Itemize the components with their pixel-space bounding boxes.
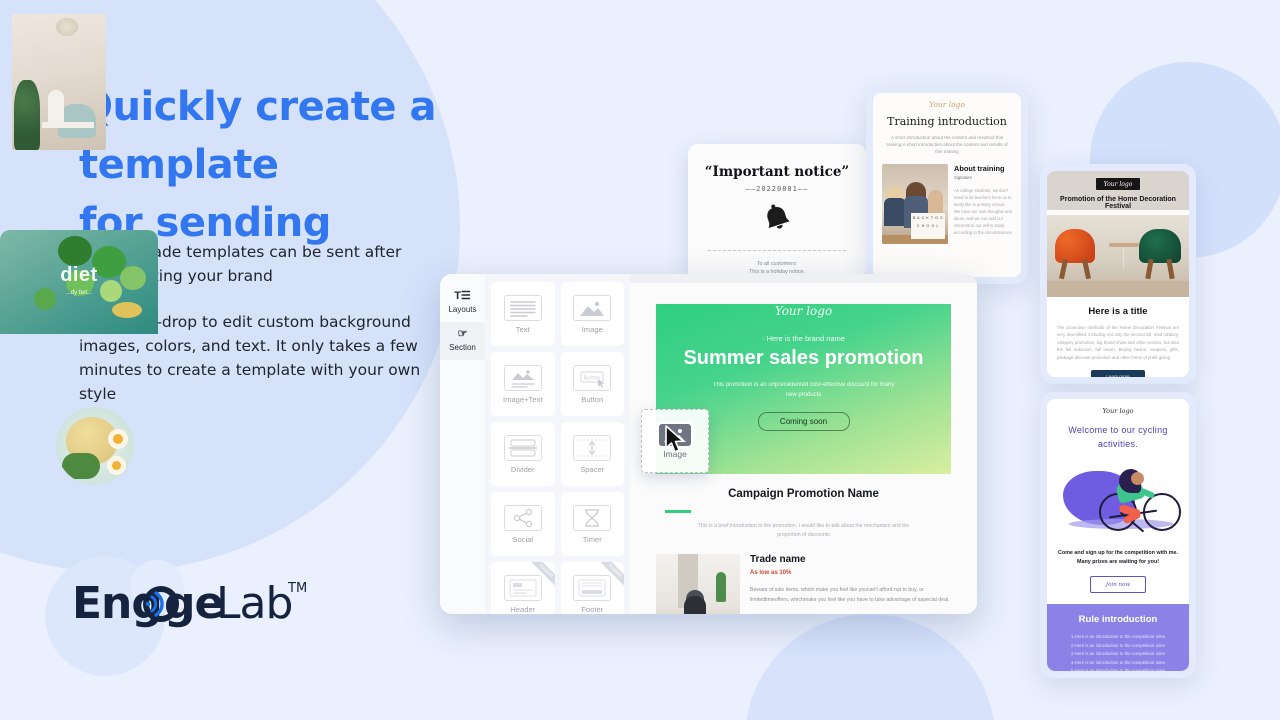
palette-tile-image[interactable]: Image — [561, 282, 625, 346]
palette-tile-button[interactable]: Button Button — [561, 352, 625, 416]
palette-tile-label: Header — [510, 605, 535, 614]
canvas-trade-title: Trade name — [750, 554, 951, 565]
canvas-trade-text-col: Trade name As low as 10% Beware of sale … — [750, 554, 951, 614]
notice-inner: “Important notice” ——20220801—— To all c… — [688, 144, 866, 286]
decoration-title: Promotion of the Home Decoration Festiva… — [1053, 196, 1183, 210]
social-block-icon — [504, 505, 542, 531]
palette-tile-label: Image — [582, 325, 603, 334]
diet-hero-subtitle: ...dy bet... — [0, 290, 158, 296]
cycling-logo: Your logo — [1047, 407, 1189, 415]
header-block-icon — [504, 575, 542, 601]
decoration-body: Here is a title The promotion methods of… — [1047, 297, 1189, 377]
canvas-hero-button[interactable]: Coming soon — [758, 412, 850, 431]
canvas-trade-price-note: As low as 10% — [750, 570, 951, 576]
training-text: As college students, we don't need to le… — [954, 187, 1012, 236]
engagelab-logo: Eng ge Lab TM — [72, 578, 312, 630]
palette-tile-label: Timer — [583, 535, 602, 544]
palette-tile-social[interactable]: Social — [491, 492, 555, 556]
palette-tile-label: Text — [516, 325, 530, 334]
canvas-promotion-title: Campaign Promotion Name — [656, 488, 951, 500]
svg-text:Lab: Lab — [216, 578, 292, 629]
canvas-trade-block[interactable]: Trade name As low as 10% Beware of sale … — [656, 554, 951, 614]
cycling-inner: Your logo Welcome to our cycling activit… — [1047, 399, 1189, 671]
canvas-hero-title: Summer sales promotion — [656, 347, 951, 370]
sidebar-item-label: Section — [440, 343, 485, 352]
training-photo-sign: B A C K T O S C H O O L — [911, 213, 945, 239]
cycling-rules-list: 1.Here is an introduction to the competi… — [1059, 633, 1177, 671]
decoration-header: Your logo Promotion of the Home Decorati… — [1047, 171, 1189, 210]
button-block-icon: Button — [573, 365, 611, 391]
notice-divider — [708, 250, 846, 251]
engagelab-wordmark-icon: Eng ge Lab TM — [72, 578, 312, 632]
palette-tile-label: Spacer — [580, 465, 604, 474]
sidebar-item-section[interactable]: ☞ Section — [440, 322, 485, 360]
training-subtitle: A short introduction about the content a… — [885, 134, 1009, 156]
sidebar-item-label: Layouts — [440, 305, 485, 314]
page-title: Quickly create a template for sending — [79, 78, 639, 252]
palette-tile-label: Footer — [581, 605, 603, 614]
palette-tile-label: Image+Text — [503, 395, 542, 404]
training-photo: B A C K T O S C H O O L — [882, 164, 948, 244]
canvas-promotion-intro: This is a brief introduction to the prom… — [690, 522, 917, 540]
cycling-rules: Rule introduction 1.Here is an introduct… — [1047, 604, 1189, 671]
palette-tile-divider[interactable]: Divider — [491, 422, 555, 486]
template-card-notice[interactable]: “Important notice” ——20220801—— To all c… — [688, 144, 866, 286]
list-item: 5.Here is an introduction to the competi… — [1059, 667, 1177, 671]
training-inner: Your logo Training introduction A short … — [873, 93, 1021, 277]
diet-hero: diet ...dy bet... — [0, 230, 158, 334]
canvas-trade-body: Beware of sale items, which make you fee… — [750, 586, 951, 605]
cycling-rules-title: Rule introduction — [1047, 614, 1189, 625]
training-title: Training introduction — [873, 115, 1021, 128]
image-text-block-icon — [504, 365, 542, 391]
cycling-title: Welcome to our cycling activities. — [1061, 423, 1175, 451]
accent-bar — [665, 510, 691, 513]
canvas-hero-brand: · Here is the brand name — [656, 334, 951, 343]
canvas-hero-logo: Your logo — [656, 304, 951, 318]
bell-icon — [700, 203, 854, 238]
training-logo: Your logo — [873, 100, 1021, 109]
decoration-logo: Your logo — [1096, 178, 1140, 190]
spacer-block-icon — [573, 435, 611, 461]
cycling-join-now-button[interactable]: Join now — [1090, 576, 1146, 593]
list-item: 4.Here is an introduction to the competi… — [1059, 659, 1177, 668]
training-about: About training Signature As college stud… — [954, 164, 1012, 244]
cycling-cta: Come and sign up for the competition wit… — [1057, 549, 1179, 567]
decoration-photo — [1047, 215, 1189, 297]
headline-line-1: Quickly create a template — [79, 84, 436, 188]
svg-text:ge: ge — [164, 578, 223, 629]
palette-tile-spacer[interactable]: Spacer — [561, 422, 625, 486]
notice-date: ——20220801—— — [700, 185, 854, 193]
palette-tile-image-text[interactable]: Image+Text — [491, 352, 555, 416]
background-circle-bottom — [745, 614, 995, 720]
svg-text:Button: Button — [584, 375, 601, 381]
training-signature: Signature — [954, 175, 1012, 180]
palette-tile-label: Button — [581, 395, 603, 404]
diet-plate-photo — [56, 407, 134, 485]
mouse-cursor-icon — [664, 425, 686, 460]
list-item: 2.Here is an introduction to the competi… — [1059, 642, 1177, 651]
decoration-heading: Here is a title — [1057, 306, 1179, 317]
image-block-icon — [573, 295, 611, 321]
training-section-title: About training — [954, 164, 1012, 173]
palette-tile-timer[interactable]: Timer — [561, 492, 625, 556]
palette-tile-label: Social — [512, 535, 533, 544]
canvas-hero-description: This promotion is an unprecedented cost-… — [710, 380, 897, 400]
template-card-decoration[interactable]: Your logo Promotion of the Home Decorati… — [1040, 164, 1196, 384]
block-palette: Text Image — [485, 274, 630, 614]
slide-canvas: Quickly create a template for sending ·R… — [0, 0, 1280, 720]
timer-block-icon — [573, 505, 611, 531]
svg-text:TM: TM — [287, 581, 307, 596]
palette-tile-footer[interactable]: custom Footer — [561, 562, 625, 614]
canvas-promotion-block[interactable]: Campaign Promotion Name This is a brief … — [630, 474, 977, 540]
canvas-trade-photo — [656, 554, 740, 614]
cycling-cta-line-1: Come and sign up for the competition wit… — [1057, 549, 1179, 558]
diet-hero-title: diet — [0, 264, 158, 287]
section-icon: ☞ — [440, 328, 485, 341]
decoration-text: The promotion methods of the Home Decora… — [1057, 324, 1179, 361]
text-block-icon — [504, 295, 542, 321]
cycling-cta-line-2: Many prizes are waiting for you! — [1057, 558, 1179, 567]
layouts-icon: T☰ — [440, 290, 485, 303]
palette-tile-header[interactable]: custom Header — [491, 562, 555, 614]
divider-block-icon — [504, 435, 542, 461]
palette-tile-text[interactable]: Text — [491, 282, 555, 346]
template-card-training[interactable]: Your logo Training introduction A short … — [866, 86, 1028, 284]
footer-block-icon — [573, 575, 611, 601]
list-item: 1.Here is an introduction to the competi… — [1059, 633, 1177, 642]
back-card-photo — [12, 14, 106, 150]
cyclist-illustration — [1047, 453, 1189, 545]
notice-title: “Important notice” — [700, 164, 854, 180]
palette-tile-label: Divider — [511, 465, 535, 474]
list-item: 3.Here is an introduction to the competi… — [1059, 650, 1177, 659]
template-card-cycling[interactable]: Your logo Welcome to our cycling activit… — [1040, 392, 1196, 678]
decoration-inner: Your logo Promotion of the Home Decorati… — [1047, 171, 1189, 377]
decoration-learn-more-button[interactable]: Learn more — [1091, 370, 1145, 377]
editor-sidebar-rail: T☰ Layouts ☞ Section — [440, 274, 485, 614]
training-body: B A C K T O S C H O O L About training S… — [873, 156, 1021, 244]
sidebar-item-layouts[interactable]: T☰ Layouts — [440, 284, 485, 322]
notice-line-1: To all customers: — [700, 260, 854, 268]
